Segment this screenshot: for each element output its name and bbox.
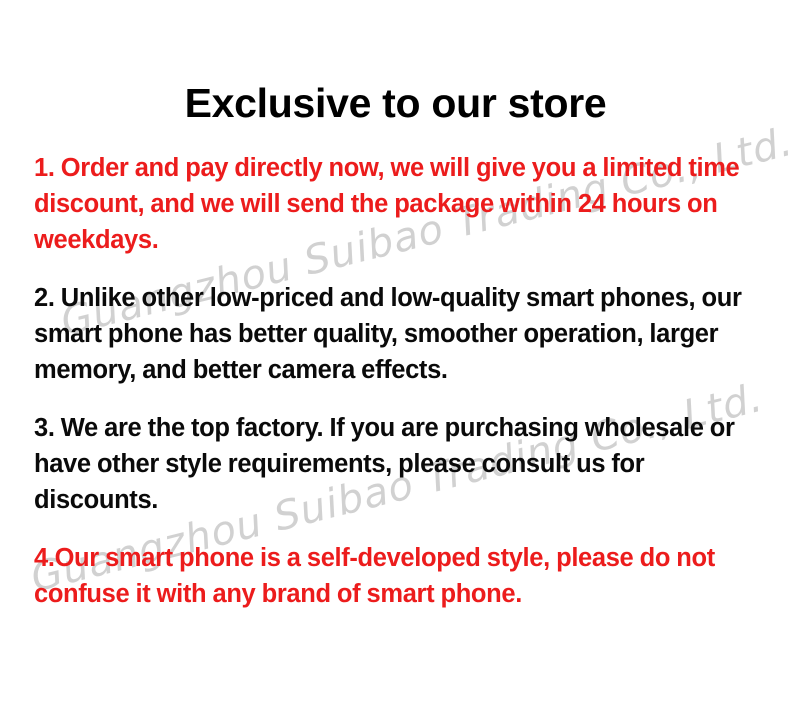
content-layer: Exclusive to our store 1. Order and pay … xyxy=(0,0,791,719)
points-list: 1. Order and pay directly now, we will g… xyxy=(34,150,768,612)
list-item-point-1: 1. Order and pay directly now, we will g… xyxy=(34,150,768,258)
promotional-banner: Guangzhou Suibao Trading Co., Ltd. Guang… xyxy=(0,0,791,719)
page-title: Exclusive to our store xyxy=(0,79,791,127)
list-item-point-4: 4.Our smart phone is a self-developed st… xyxy=(34,540,768,612)
list-item-point-2: 2. Unlike other low-priced and low-quali… xyxy=(34,280,768,388)
list-item-point-3: 3. We are the top factory. If you are pu… xyxy=(34,410,768,518)
